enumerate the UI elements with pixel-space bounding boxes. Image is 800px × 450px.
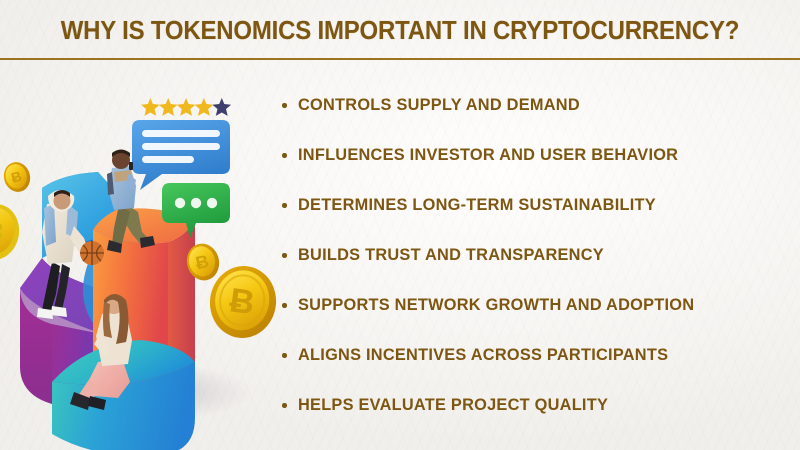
header: WHY IS TOKENOMICS IMPORTANT IN CRYPTOCUR… xyxy=(0,0,800,60)
list-item-label: CONTROLS SUPPLY AND DEMAND xyxy=(298,95,580,115)
star-filled-2 xyxy=(159,98,178,116)
list-item: BUILDS TRUST AND TRANSPARENCY xyxy=(278,230,794,280)
svg-text:Ƀ: Ƀ xyxy=(227,281,257,322)
bitcoin-coin-edge-left: Ƀ xyxy=(0,200,23,263)
bullet-dot-icon xyxy=(282,203,287,208)
star-filled-4 xyxy=(195,98,214,116)
list-item: ALIGNS INCENTIVES ACROSS PARTICIPANTS xyxy=(278,330,794,380)
list-item-label: DETERMINES LONG-TERM SUSTAINABILITY xyxy=(298,195,656,215)
bullet-dot-icon xyxy=(282,303,287,308)
list-item: INFLUENCES INVESTOR AND USER BEHAVIOR xyxy=(278,130,794,180)
infographic-canvas: WHY IS TOKENOMICS IMPORTANT IN CRYPTOCUR… xyxy=(0,0,800,450)
list-item-label: HELPS EVALUATE PROJECT QUALITY xyxy=(298,395,608,415)
page-title: WHY IS TOKENOMICS IMPORTANT IN CRYPTOCUR… xyxy=(24,17,776,46)
list-item: CONTROLS SUPPLY AND DEMAND xyxy=(278,80,794,130)
list-item-label: INFLUENCES INVESTOR AND USER BEHAVIOR xyxy=(298,145,678,165)
list-item: HELPS EVALUATE PROJECT QUALITY xyxy=(278,380,794,430)
list-item-label: BUILDS TRUST AND TRANSPARENCY xyxy=(298,245,604,265)
blue-review-bubble xyxy=(132,120,230,190)
list-item: SUPPORTS NETWORK GROWTH AND ADOPTION xyxy=(278,280,794,330)
star-empty-5 xyxy=(212,98,231,116)
list-item-label: ALIGNS INCENTIVES ACROSS PARTICIPANTS xyxy=(298,345,668,365)
bullet-dot-icon xyxy=(282,153,287,158)
illustration-3d-pie-chart-collage: Ƀ Ƀ Ƀ Ƀ xyxy=(0,62,290,450)
title-divider xyxy=(0,58,800,60)
bitcoin-coin-large-right: Ƀ xyxy=(205,262,280,342)
bitcoin-coin-small-left: Ƀ xyxy=(0,159,33,195)
bullet-dot-icon xyxy=(282,253,287,258)
list-item-label: SUPPORTS NETWORK GROWTH AND ADOPTION xyxy=(298,295,694,315)
list-item: DETERMINES LONG-TERM SUSTAINABILITY xyxy=(278,180,794,230)
star-filled-1 xyxy=(141,98,160,116)
rating-stars xyxy=(141,98,231,116)
benefits-list: CONTROLS SUPPLY AND DEMAND INFLUENCES IN… xyxy=(278,80,794,430)
star-filled-3 xyxy=(177,98,196,116)
bullet-dot-icon xyxy=(282,353,287,358)
bullet-dot-icon xyxy=(282,403,287,408)
bullet-dot-icon xyxy=(282,103,287,108)
